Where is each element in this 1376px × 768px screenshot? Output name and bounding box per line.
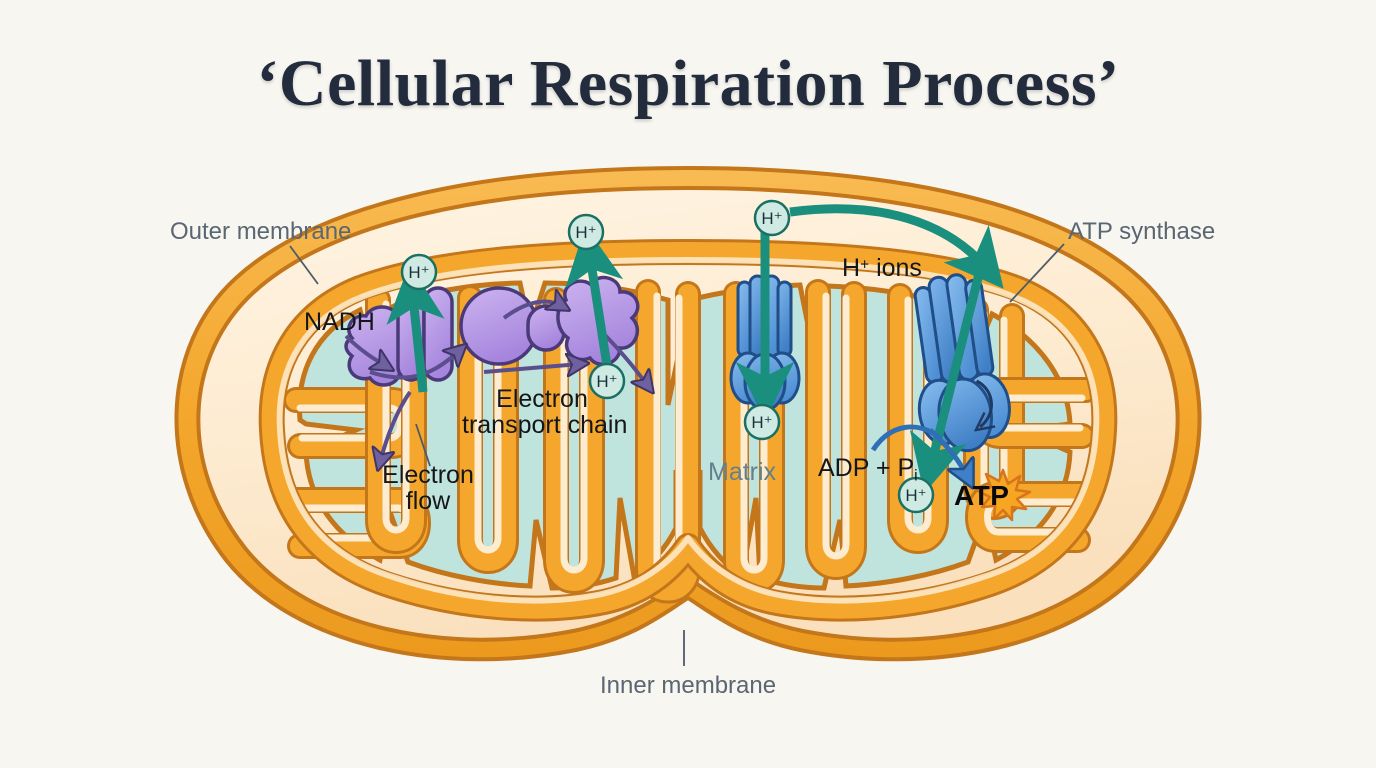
diagram-canvas: ‘Cellular Respiration Process’ [0, 0, 1376, 768]
adp-subscript: i [914, 467, 917, 484]
h-badge-pump-bot: H⁺ [745, 405, 779, 439]
h-ions-superscript: + [860, 257, 869, 274]
svg-text:H⁺: H⁺ [761, 209, 782, 228]
h-badge-etc-left: H⁺ [402, 255, 436, 289]
label-electron-flow: Electron flow [378, 462, 478, 515]
label-inner-membrane: Inner membrane [600, 672, 776, 700]
etc-line-1: Electron [462, 386, 622, 412]
svg-text:H⁺: H⁺ [751, 413, 772, 432]
h-badge-pump-top: H⁺ [755, 201, 789, 235]
label-atp: ATP [954, 480, 1009, 512]
label-adp-pi: ADP + Pi [818, 454, 918, 485]
etc-complex-3[interactable] [461, 288, 537, 364]
svg-text:H⁺: H⁺ [905, 486, 926, 505]
svg-text:H⁺: H⁺ [408, 263, 429, 282]
label-outer-membrane: Outer membrane [170, 218, 351, 246]
svg-text:H⁺: H⁺ [575, 223, 596, 242]
h-badge-etc-right: H⁺ [569, 215, 603, 249]
mitochondrion-illustration: H⁺ H⁺ H⁺ H⁺ H⁺ H⁺ [0, 0, 1376, 768]
label-h-ions: H+ ions [842, 254, 922, 283]
label-atp-synthase: ATP synthase [1068, 218, 1215, 246]
adp-prefix: ADP + P [818, 454, 914, 482]
label-electron-transport-chain: Electron transport chain [462, 386, 622, 439]
electron-flow-line-1: Electron [378, 462, 478, 488]
h-ions-suffix: ions [869, 254, 922, 282]
h-ions-prefix: H [842, 254, 860, 282]
etc-line-2: transport chain [462, 412, 622, 438]
label-matrix: Matrix [708, 458, 776, 487]
label-nadh: NADH [304, 308, 375, 337]
electron-flow-line-2: flow [378, 488, 478, 514]
